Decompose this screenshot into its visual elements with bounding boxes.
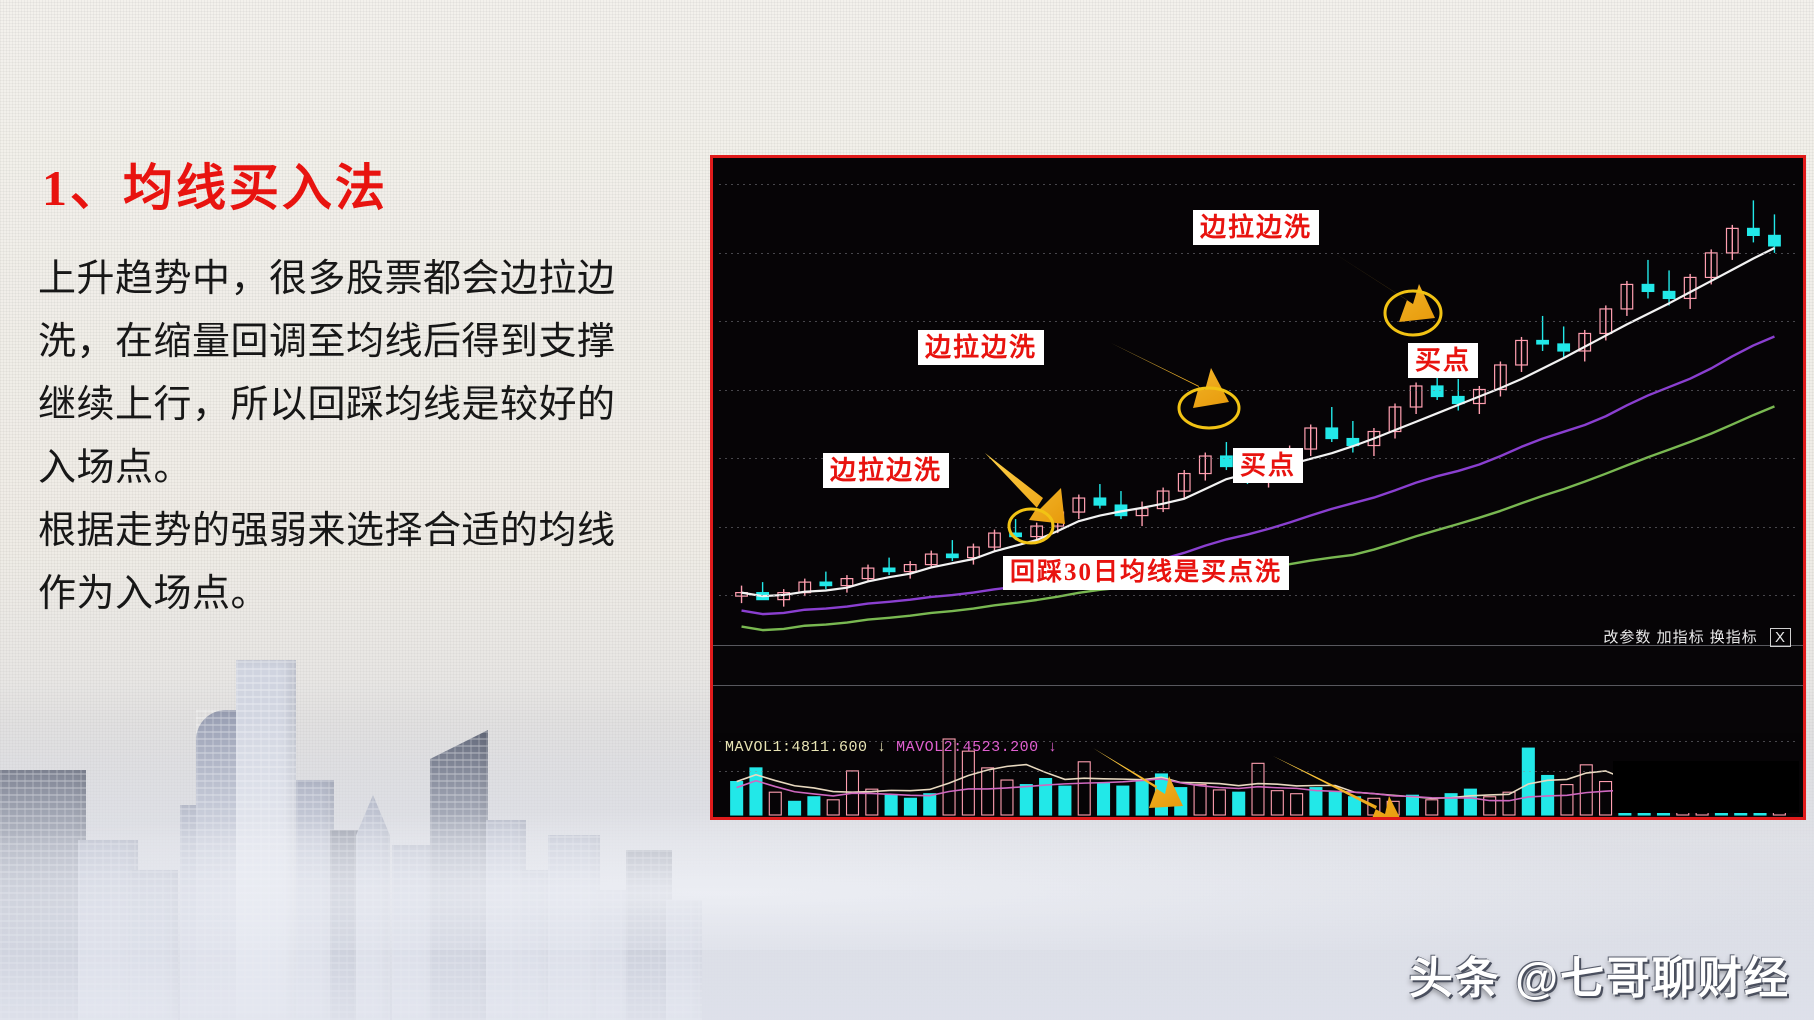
mavol2-value: 4523.200 bbox=[963, 739, 1039, 756]
body-line: 上升趋势中，很多股票都会边拉边 bbox=[38, 248, 688, 311]
body-line: 入场点。 bbox=[38, 437, 688, 500]
mavol1-label: MAVOL1 bbox=[725, 739, 782, 756]
gridline bbox=[719, 184, 1797, 185]
watermark: 头条 @七哥聊财经 bbox=[1409, 942, 1790, 1006]
slide-canvas: 1、均线买入法 上升趋势中，很多股票都会边拉边 洗，在缩量回调至均线后得到支撑 … bbox=[0, 0, 1814, 1020]
tag-buypoint-2: 买点 bbox=[1408, 343, 1478, 378]
pane-separator bbox=[713, 645, 1803, 733]
body-line: 根据走势的强弱来选择合适的均线 bbox=[38, 500, 688, 563]
body-text: 上升趋势中，很多股票都会边拉边 洗，在缩量回调至均线后得到支撑 继续上行，所以回… bbox=[38, 248, 688, 626]
volume-legend: MAVOL1:4811.600 ↓ MAVOL2:4523.200 ↓ bbox=[725, 739, 1058, 756]
gridline bbox=[719, 321, 1797, 322]
chart-toolbar[interactable]: 改参数 加指标 换指标 X bbox=[1603, 626, 1791, 647]
change-params-button[interactable]: 改参数 bbox=[1603, 629, 1651, 646]
body-line: 洗，在缩量回调至均线后得到支撑 bbox=[38, 311, 688, 374]
close-icon[interactable]: X bbox=[1770, 628, 1791, 647]
add-indicator-button[interactable]: 加指标 bbox=[1657, 629, 1705, 646]
page-title: 1、均线买入法 bbox=[42, 148, 388, 220]
mavol2-arrow-icon: ↓ bbox=[1048, 739, 1058, 756]
mavol1-arrow-icon: ↓ bbox=[877, 739, 887, 756]
gridline bbox=[719, 527, 1797, 528]
gridline bbox=[719, 253, 1797, 254]
divider bbox=[713, 685, 1803, 686]
tag-pullback-3: 边拉边洗 bbox=[1193, 210, 1319, 245]
gridline bbox=[719, 595, 1797, 596]
tag-pullback-2: 边拉边洗 bbox=[918, 330, 1044, 365]
tag-ma30-note: 回踩30日均线是买点洗 bbox=[1003, 556, 1289, 590]
tag-pullback-1: 边拉边洗 bbox=[823, 453, 949, 488]
switch-indicator-button[interactable]: 换指标 bbox=[1710, 629, 1758, 646]
mavol1-value: 4811.600 bbox=[792, 739, 868, 756]
mavol2-label: MAVOL2 bbox=[896, 739, 953, 756]
empty-panel bbox=[1613, 761, 1799, 813]
body-line: 作为入场点。 bbox=[38, 563, 688, 626]
body-line: 继续上行，所以回踩均线是较好的 bbox=[38, 374, 688, 437]
tag-buypoint-1: 买点 bbox=[1233, 448, 1303, 483]
gridline bbox=[719, 390, 1797, 391]
stock-chart-window[interactable]: 边拉边洗 边拉边洗 边拉边洗 买点 买点 回踩30日均线是买点洗 改参数 加指标… bbox=[710, 155, 1806, 820]
